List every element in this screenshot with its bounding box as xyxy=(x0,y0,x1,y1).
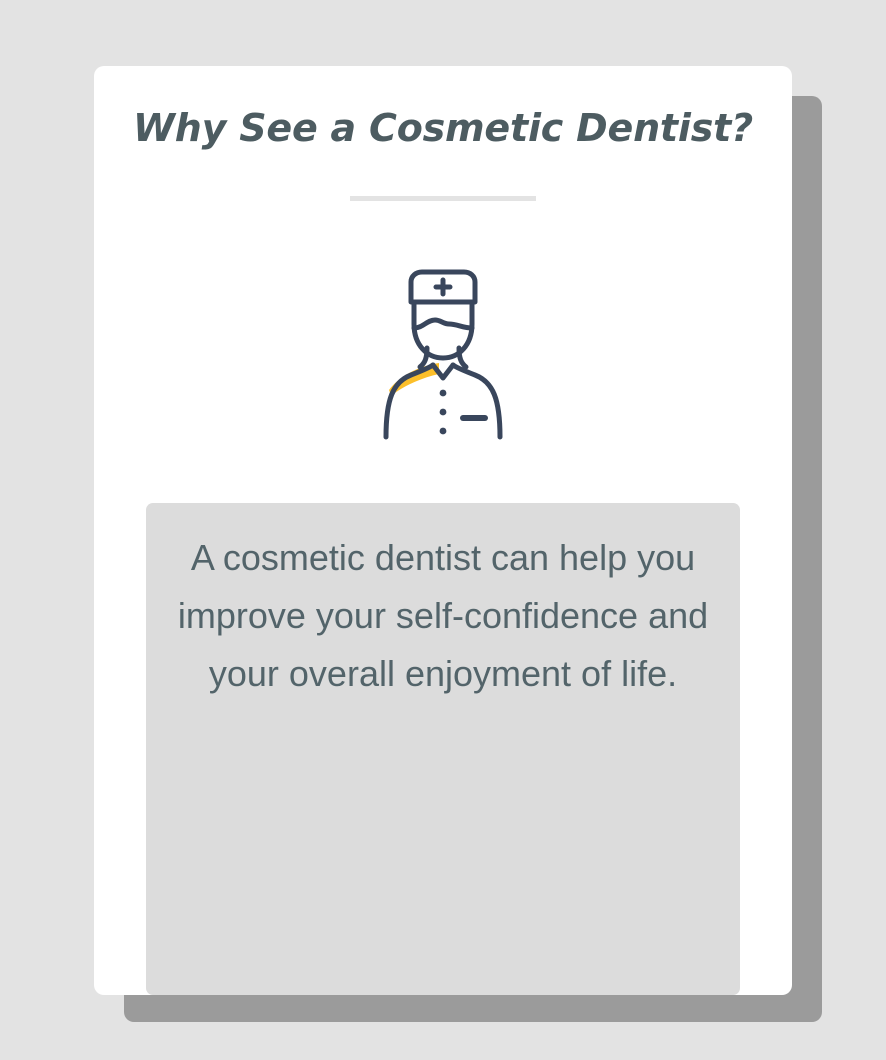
coat-buttons-icon xyxy=(440,390,447,397)
message-text: A cosmetic dentist can help you improve … xyxy=(170,529,716,703)
card-stage: Why See a Cosmetic Dentist? xyxy=(0,0,886,1060)
collar-icon xyxy=(433,365,453,378)
message-panel: A cosmetic dentist can help you improve … xyxy=(146,503,740,995)
plus-icon xyxy=(436,280,450,294)
coat-buttons-icon xyxy=(440,409,447,416)
page-title: Why See a Cosmetic Dentist? xyxy=(94,106,792,150)
info-card: Why See a Cosmetic Dentist? xyxy=(94,66,792,995)
head-icon xyxy=(414,304,472,358)
face-mask-icon xyxy=(414,320,472,328)
dentist-icon xyxy=(375,266,511,446)
title-divider xyxy=(350,196,536,201)
right-shoulder-line xyxy=(453,365,500,437)
coat-buttons-icon xyxy=(440,428,447,435)
